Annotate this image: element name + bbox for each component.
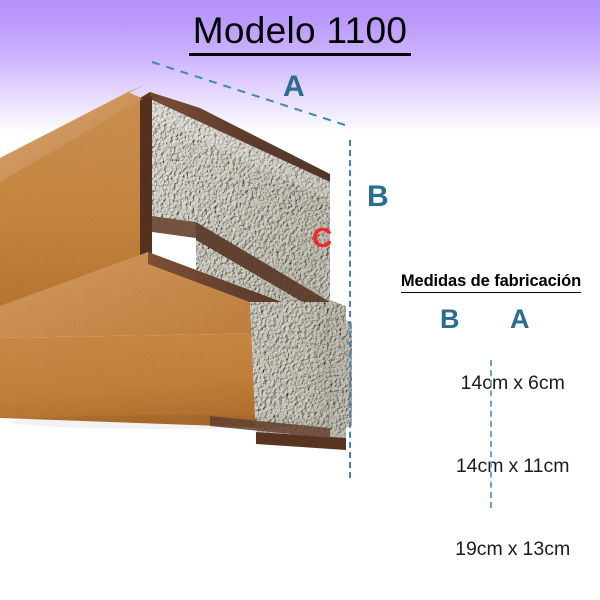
poster-canvas: Modelo 1100 [0, 0, 600, 600]
measurement-a: 6cm [528, 372, 565, 394]
column-divider [490, 360, 492, 508]
measurement-b: 14cm [456, 455, 504, 477]
measurement-a: 13cm [523, 538, 571, 560]
dimension-label-a: A [283, 72, 305, 102]
dimension-label-c: C [312, 224, 332, 252]
measurement-separator: x [508, 372, 528, 394]
page-title-text: Modelo 1100 [189, 12, 412, 56]
measurements-title: Medidas de fabricación [401, 272, 581, 293]
measurements-title-wrap: Medidas de fabricación [382, 272, 600, 293]
measurements-rows: 14cmx6cm 14cmx11cm 19cmx13cm [382, 342, 600, 591]
column-header-b: B [440, 306, 460, 333]
measurement-b: 14cm [461, 372, 509, 394]
measurements-panel: Medidas de fabricación B A 14cmx6cm 14cm… [382, 272, 600, 600]
dimension-guide-b [349, 140, 354, 478]
measurements-column-headers: B A [382, 306, 600, 340]
measurement-b: 19cm [455, 538, 503, 560]
measurement-separator: x [503, 538, 523, 560]
measurement-a: 11cm [523, 455, 569, 477]
page-title: Modelo 1100 [0, 12, 600, 56]
column-header-a: A [510, 306, 530, 333]
dimension-label-b: B [367, 182, 389, 212]
measurement-row: 19cmx13cm [382, 508, 600, 591]
measurement-separator: x [504, 455, 524, 477]
product-photo [0, 70, 360, 490]
